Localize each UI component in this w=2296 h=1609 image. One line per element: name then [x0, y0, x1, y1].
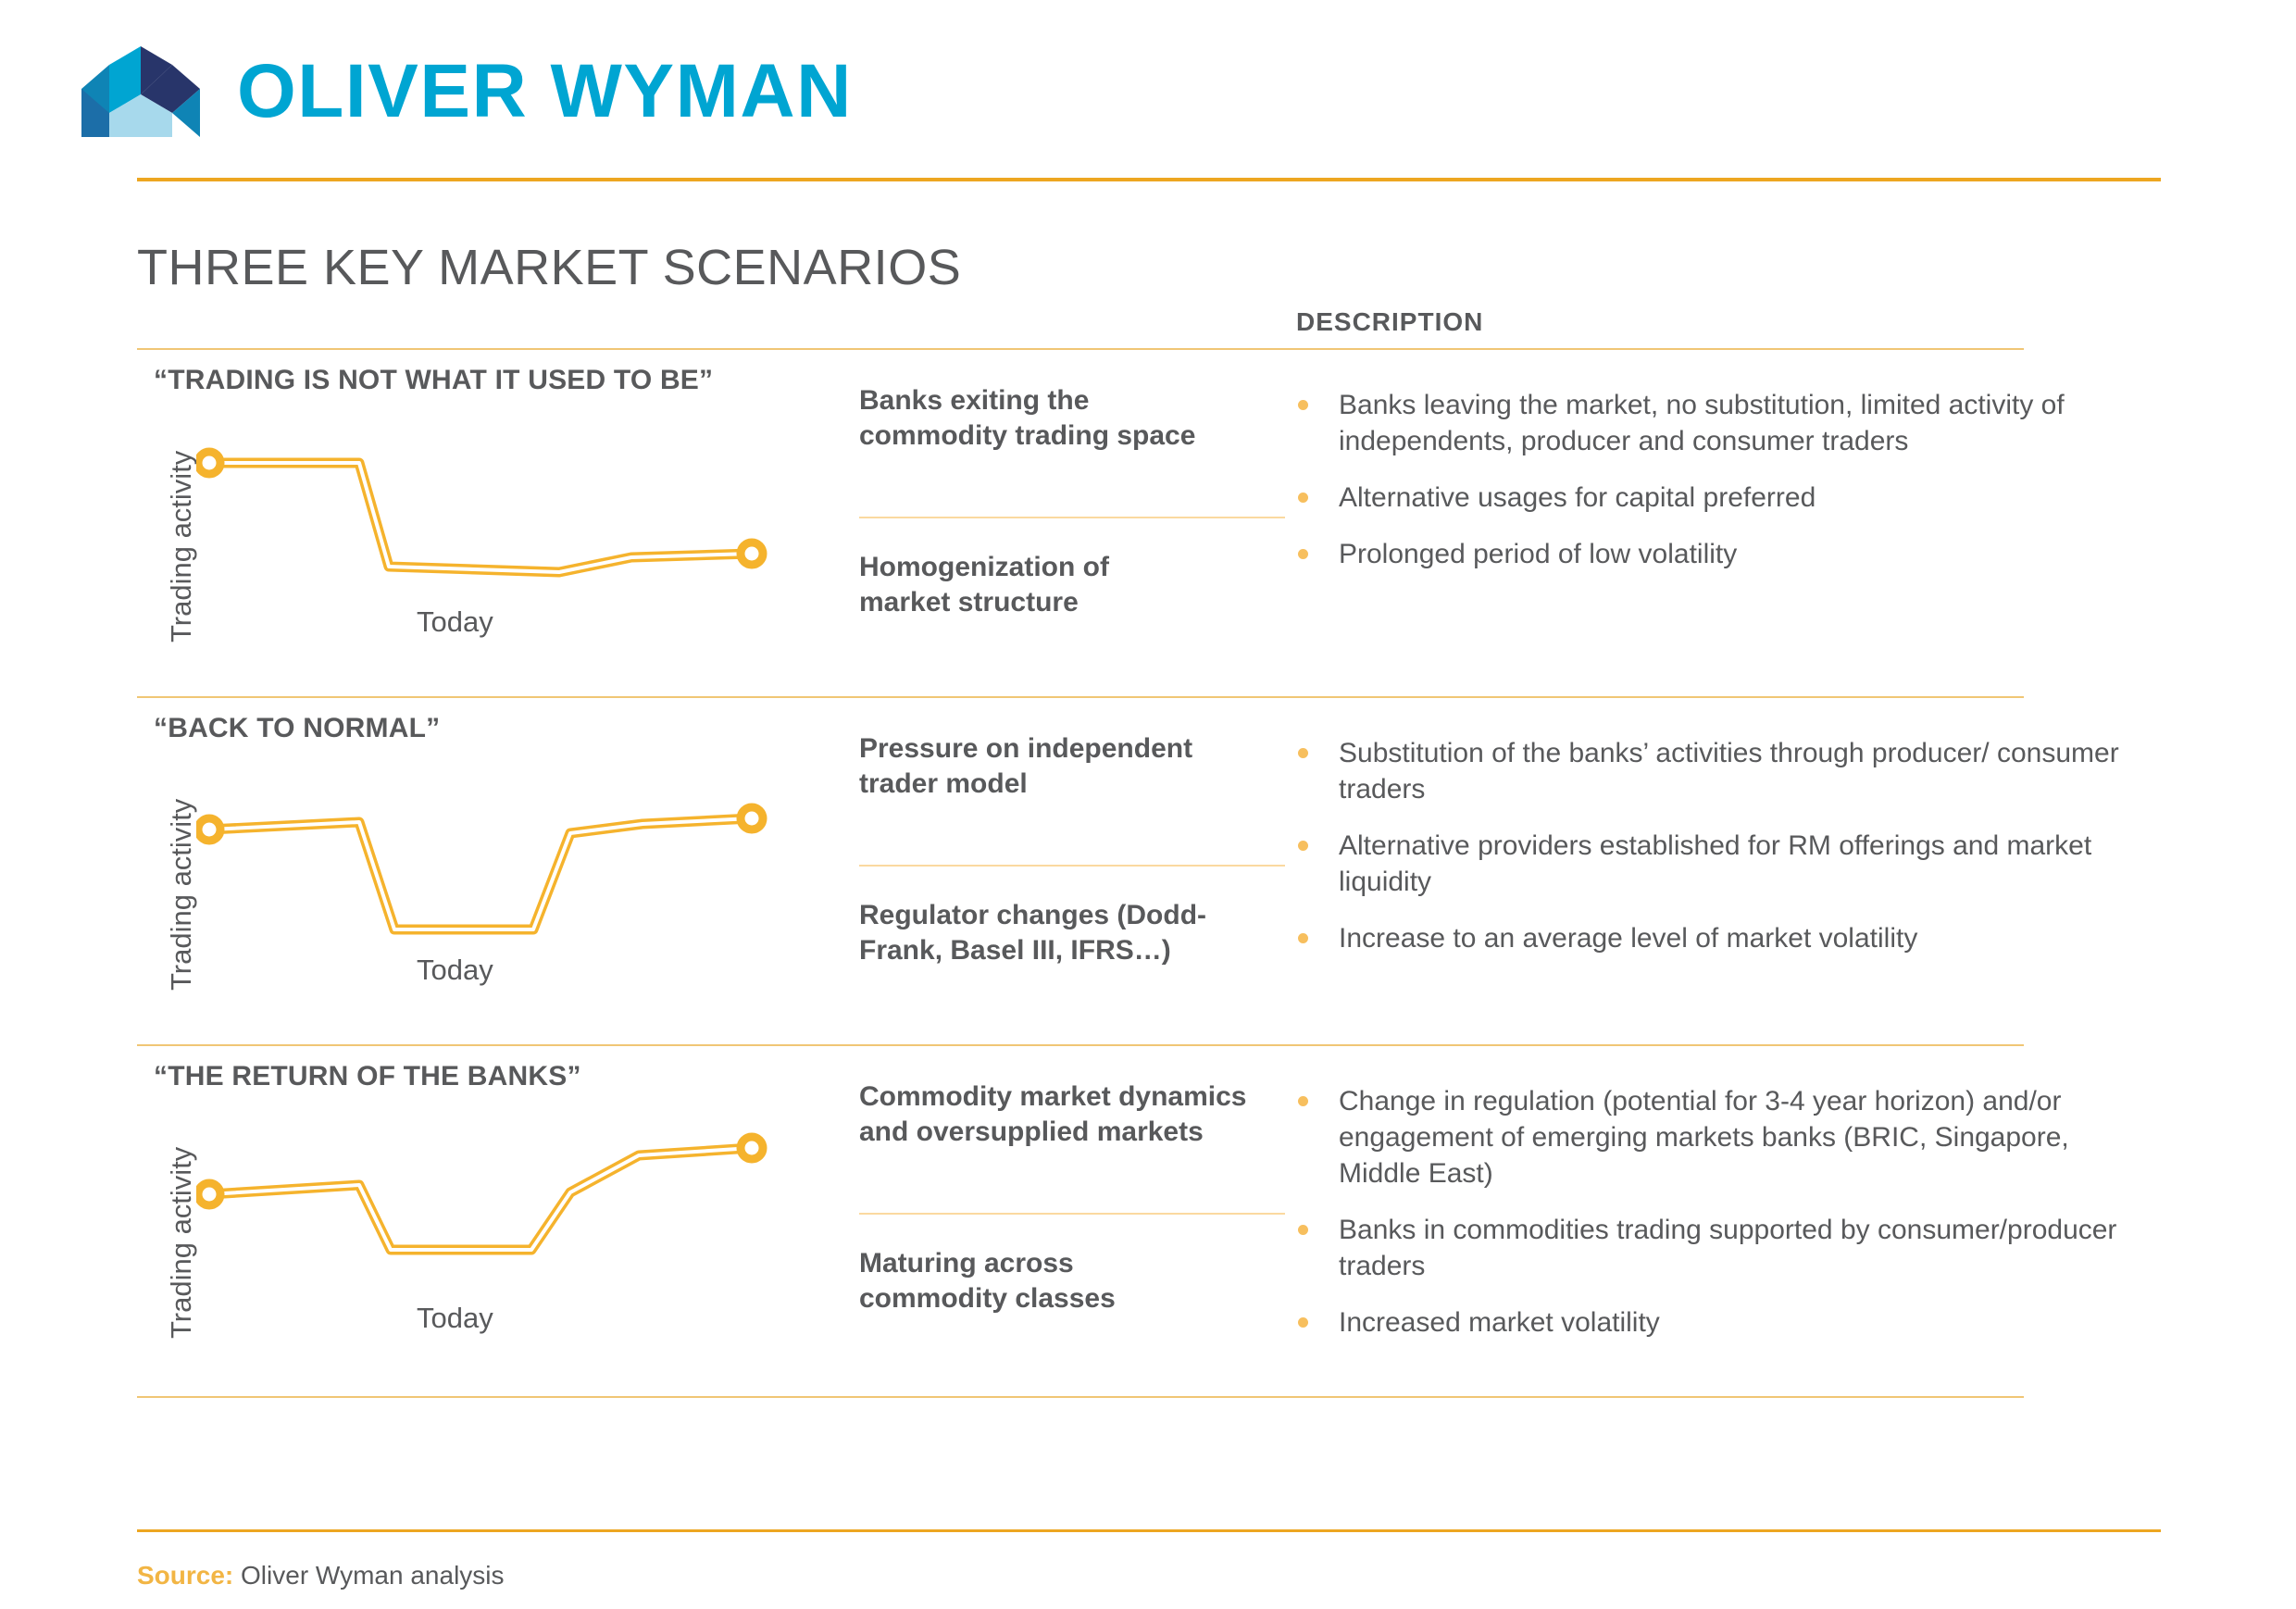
driver-2-1: Pressure on independenttrader model: [859, 731, 1287, 803]
footer-divider: [137, 1529, 2161, 1532]
source-text: Oliver Wyman analysis: [233, 1561, 504, 1590]
scenario-chart-1: Trading activity Today: [148, 404, 815, 663]
bullet-text: Prolonged period of low volatility: [1339, 539, 1737, 569]
header-divider: [137, 178, 2161, 181]
bullet-text: Change in regulation (potential for 3-4 …: [1339, 1086, 2069, 1189]
driver-1-2: Homogenization ofmarket structure: [859, 550, 1287, 621]
driver-3-1: Commodity market dynamicsand oversupplie…: [859, 1079, 1287, 1151]
scenario-drivers-1: Banks exiting thecommodity trading space…: [859, 383, 1294, 661]
bullet-item: Alternative usages for capital preferred: [1294, 480, 2128, 516]
driver-separator-2: [859, 865, 1285, 867]
row-divider-0: [137, 348, 2024, 350]
bullet-dot-icon: [1298, 549, 1308, 559]
slide-page: OLIVER WYMAN THREE KEY MARKET SCENARIOS …: [0, 0, 2296, 1609]
bullet-dot-icon: [1298, 1317, 1308, 1328]
bullet-dot-icon: [1298, 493, 1308, 503]
bullet-item: Increase to an average level of market v…: [1294, 920, 2128, 956]
scenario-bullets-2: Substitution of the banks’ activities th…: [1294, 735, 2128, 977]
brand-header: OLIVER WYMAN: [81, 46, 853, 137]
driver-2-2: Regulator changes (Dodd-Frank, Basel III…: [859, 898, 1287, 969]
bullet-text: Alternative usages for capital preferred: [1339, 482, 1816, 513]
brand-wordmark: OLIVER WYMAN: [237, 54, 853, 130]
scenario-drivers-2: Pressure on independenttrader model Regu…: [859, 731, 1294, 1009]
bullet-dot-icon: [1298, 400, 1308, 410]
scenario-chart-2: Trading activity Today: [148, 752, 815, 1011]
driver-separator-3: [859, 1213, 1285, 1215]
row-divider-3: [137, 1396, 2024, 1398]
bullet-text: Substitution of the banks’ activities th…: [1339, 738, 2119, 804]
bullet-item: Prolonged period of low volatility: [1294, 536, 2128, 572]
scenario-chart-3: Trading activity Today: [148, 1100, 815, 1359]
chart-line-2: [196, 757, 789, 952]
row-divider-2: [137, 1044, 2024, 1046]
oliver-wyman-diamond-logo-icon: [81, 46, 200, 137]
scenario-bullets-1: Banks leaving the market, no substitutio…: [1294, 387, 2128, 592]
bullet-dot-icon: [1298, 1096, 1308, 1106]
driver-1-1: Banks exiting thecommodity trading space: [859, 383, 1287, 455]
bullet-text: Alternative providers established for RM…: [1339, 830, 2091, 897]
bullet-text: Banks leaving the market, no substitutio…: [1339, 390, 2065, 456]
driver-separator-1: [859, 517, 1285, 518]
source-label: Source:: [137, 1561, 233, 1590]
bullet-item: Substitution of the banks’ activities th…: [1294, 735, 2128, 807]
chart-x-axis-label-1: Today: [417, 605, 493, 639]
source-note: Source: Oliver Wyman analysis: [137, 1561, 505, 1590]
bullet-item: Change in regulation (potential for 3-4 …: [1294, 1083, 2128, 1191]
scenario-label-1: “TRADING IS NOT WHAT IT USED TO BE”: [154, 365, 713, 396]
bullet-item: Alternative providers established for RM…: [1294, 828, 2128, 900]
chart-x-axis-label-3: Today: [417, 1302, 493, 1335]
description-column-header: DESCRIPTION: [1296, 307, 1483, 337]
bullet-dot-icon: [1298, 841, 1308, 851]
scenario-drivers-3: Commodity market dynamicsand oversupplie…: [859, 1079, 1294, 1357]
bullet-dot-icon: [1298, 933, 1308, 943]
page-title: THREE KEY MARKET SCENARIOS: [137, 239, 961, 296]
bullet-text: Increase to an average level of market v…: [1339, 923, 1917, 954]
scenario-label-2: “BACK TO NORMAL”: [154, 713, 440, 744]
scenario-bullets-3: Change in regulation (potential for 3-4 …: [1294, 1083, 2128, 1361]
chart-line-1: [196, 409, 789, 604]
bullet-item: Increased market volatility: [1294, 1304, 2128, 1341]
bullet-text: Banks in commodities trading supported b…: [1339, 1215, 2116, 1281]
chart-line-3: [196, 1105, 789, 1300]
scenario-label-3: “THE RETURN OF THE BANKS”: [154, 1061, 581, 1092]
bullet-item: Banks leaving the market, no substitutio…: [1294, 387, 2128, 459]
row-divider-1: [137, 696, 2024, 698]
bullet-text: Increased market volatility: [1339, 1307, 1660, 1338]
driver-3-2: Maturing acrosscommodity classes: [859, 1246, 1287, 1317]
bullet-dot-icon: [1298, 748, 1308, 758]
bullet-dot-icon: [1298, 1225, 1308, 1235]
chart-x-axis-label-2: Today: [417, 954, 493, 987]
bullet-item: Banks in commodities trading supported b…: [1294, 1212, 2128, 1284]
